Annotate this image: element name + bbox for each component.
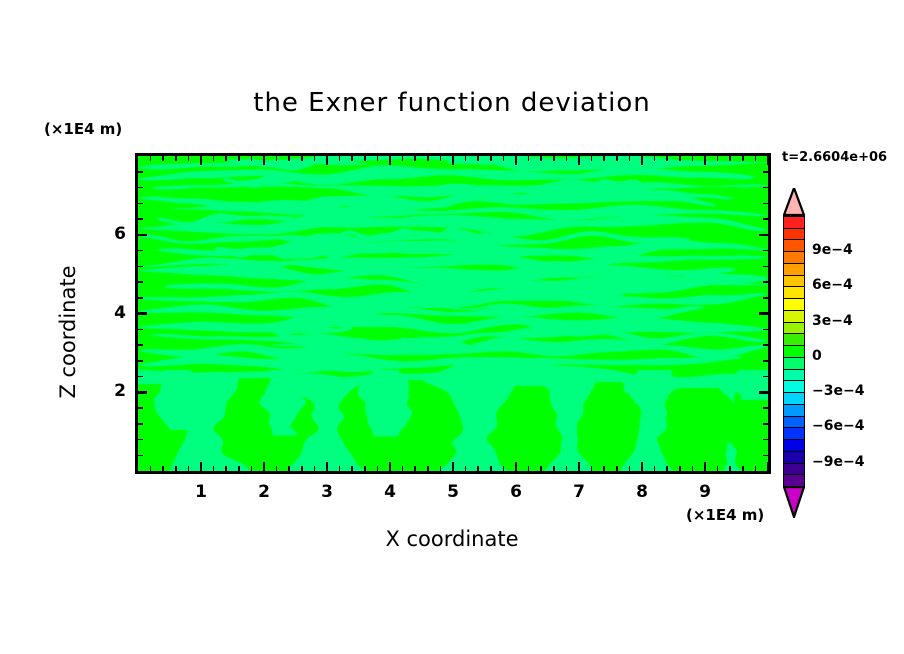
x-minor-tick <box>162 466 164 471</box>
x-minor-tick <box>402 466 404 471</box>
x-minor-tick <box>339 466 341 471</box>
x-minor-tick <box>591 466 593 471</box>
x-minor-tick-top <box>503 156 505 161</box>
x-major-tick <box>578 462 581 471</box>
x-minor-tick-top <box>717 156 719 161</box>
x-minor-tick-top <box>729 156 731 161</box>
y-major-tick-right <box>759 234 768 237</box>
x-minor-tick-top <box>314 156 316 161</box>
y-minor-tick <box>138 281 143 283</box>
x-minor-tick <box>616 466 618 471</box>
x-major-tick-top <box>704 156 707 165</box>
x-major-tick <box>452 462 455 471</box>
colorbar-tick-label: 3e−4 <box>812 313 853 329</box>
y-minor-tick-right <box>763 360 768 362</box>
y-axis-unit-label: (×1E4 m) <box>44 120 122 138</box>
x-minor-tick-top <box>591 156 593 161</box>
colorbar-tick-label: 0 <box>812 348 822 364</box>
x-minor-tick <box>440 466 442 471</box>
colorbar <box>783 216 805 486</box>
y-minor-tick-right <box>763 187 768 189</box>
y-minor-tick-right <box>763 376 768 378</box>
y-tick-label: 2 <box>100 381 126 401</box>
x-minor-tick <box>528 466 530 471</box>
y-minor-tick <box>138 297 143 299</box>
x-minor-tick <box>351 466 353 471</box>
x-minor-tick <box>465 466 467 471</box>
y-minor-tick-right <box>763 455 768 457</box>
x-minor-tick <box>188 466 190 471</box>
x-minor-tick <box>276 466 278 471</box>
x-minor-tick-top <box>288 156 290 161</box>
x-minor-tick-top <box>150 156 152 161</box>
x-minor-tick-top <box>162 156 164 161</box>
x-minor-tick-top <box>427 156 429 161</box>
x-minor-tick-top <box>528 156 530 161</box>
x-major-tick-top <box>515 156 518 165</box>
x-minor-tick-top <box>566 156 568 161</box>
x-minor-tick <box>427 466 429 471</box>
x-minor-tick <box>566 466 568 471</box>
x-minor-tick-top <box>402 156 404 161</box>
x-minor-tick-top <box>225 156 227 161</box>
x-minor-tick <box>490 466 492 471</box>
x-tick-label: 9 <box>685 482 725 502</box>
x-minor-tick-top <box>692 156 694 161</box>
x-minor-tick-top <box>603 156 605 161</box>
y-major-tick-right <box>759 312 768 315</box>
x-minor-tick <box>213 466 215 471</box>
y-axis-title: Z coordinate <box>56 232 80 432</box>
x-minor-tick-top <box>440 156 442 161</box>
contour-field <box>138 156 768 471</box>
y-minor-tick <box>138 423 143 425</box>
colorbar-tick-label: 6e−4 <box>812 277 853 293</box>
y-minor-tick <box>138 439 143 441</box>
x-minor-tick <box>377 466 379 471</box>
x-major-tick-top <box>200 156 203 165</box>
x-minor-tick-top <box>629 156 631 161</box>
x-major-tick <box>515 462 518 471</box>
y-major-tick <box>138 312 147 315</box>
y-minor-tick-right <box>763 250 768 252</box>
y-major-tick <box>138 234 147 237</box>
y-minor-tick-right <box>763 423 768 425</box>
x-minor-tick-top <box>377 156 379 161</box>
y-minor-tick <box>138 171 143 173</box>
x-tick-label: 3 <box>307 482 347 502</box>
x-major-tick-top <box>389 156 392 165</box>
x-minor-tick-top <box>490 156 492 161</box>
x-minor-tick <box>729 466 731 471</box>
x-minor-tick-top <box>742 156 744 161</box>
x-minor-tick <box>414 466 416 471</box>
x-minor-tick <box>540 466 542 471</box>
x-minor-tick <box>477 466 479 471</box>
colorbar-over-arrow <box>783 188 805 216</box>
x-minor-tick-top <box>238 156 240 161</box>
y-minor-tick-right <box>763 203 768 205</box>
x-minor-tick <box>654 466 656 471</box>
x-minor-tick-top <box>351 156 353 161</box>
x-minor-tick-top <box>301 156 303 161</box>
y-minor-tick <box>138 266 143 268</box>
x-minor-tick <box>301 466 303 471</box>
x-minor-tick-top <box>339 156 341 161</box>
x-minor-tick-top <box>540 156 542 161</box>
x-major-tick-top <box>641 156 644 165</box>
y-minor-tick-right <box>763 407 768 409</box>
x-minor-tick-top <box>477 156 479 161</box>
x-major-tick <box>389 462 392 471</box>
x-minor-tick-top <box>755 156 757 161</box>
x-tick-label: 5 <box>433 482 473 502</box>
x-minor-tick-top <box>364 156 366 161</box>
x-major-tick <box>200 462 203 471</box>
x-minor-tick-top <box>679 156 681 161</box>
y-tick-label: 6 <box>100 224 126 244</box>
colorbar-tick-label: −9e−4 <box>812 454 864 470</box>
x-minor-tick <box>692 466 694 471</box>
x-minor-tick <box>603 466 605 471</box>
x-minor-tick <box>175 466 177 471</box>
x-minor-tick-top <box>414 156 416 161</box>
x-minor-tick-top <box>465 156 467 161</box>
y-minor-tick-right <box>763 171 768 173</box>
x-tick-label: 8 <box>622 482 662 502</box>
x-minor-tick-top <box>654 156 656 161</box>
x-major-tick-top <box>326 156 329 165</box>
x-minor-tick-top <box>276 156 278 161</box>
y-minor-tick <box>138 250 143 252</box>
x-axis-unit-label: (×1E4 m) <box>686 506 764 524</box>
x-major-tick-top <box>767 156 770 165</box>
y-minor-tick <box>138 360 143 362</box>
x-major-tick-top <box>263 156 266 165</box>
x-minor-tick <box>225 466 227 471</box>
y-minor-tick-right <box>763 281 768 283</box>
x-minor-tick <box>755 466 757 471</box>
colorbar-under-arrow <box>783 486 805 518</box>
y-minor-tick <box>138 344 143 346</box>
colorbar-tick-label: −3e−4 <box>812 383 864 399</box>
time-annotation: t=2.6604e+06 <box>782 150 887 165</box>
x-minor-tick-top <box>616 156 618 161</box>
y-minor-tick <box>138 407 143 409</box>
x-minor-tick <box>314 466 316 471</box>
x-major-tick-top <box>578 156 581 165</box>
x-major-tick <box>326 462 329 471</box>
y-minor-tick <box>138 329 143 331</box>
y-minor-tick-right <box>763 266 768 268</box>
y-minor-tick-right <box>763 439 768 441</box>
x-minor-tick <box>629 466 631 471</box>
colorbar-tick-label: 9e−4 <box>812 242 853 258</box>
x-minor-tick <box>717 466 719 471</box>
x-minor-tick-top <box>251 156 253 161</box>
x-minor-tick <box>238 466 240 471</box>
x-minor-tick <box>150 466 152 471</box>
y-minor-tick <box>138 218 143 220</box>
x-major-tick <box>767 462 770 471</box>
x-minor-tick-top <box>553 156 555 161</box>
x-tick-label: 4 <box>370 482 410 502</box>
x-minor-tick-top <box>666 156 668 161</box>
x-tick-label: 7 <box>559 482 599 502</box>
page-title: the Exner function deviation <box>0 88 904 118</box>
contour-plot-area <box>135 153 771 474</box>
x-minor-tick-top <box>175 156 177 161</box>
y-minor-tick <box>138 187 143 189</box>
x-minor-tick <box>679 466 681 471</box>
x-major-tick-top <box>452 156 455 165</box>
y-major-tick-right <box>759 391 768 394</box>
y-minor-tick-right <box>763 218 768 220</box>
x-minor-tick <box>288 466 290 471</box>
y-major-tick <box>138 391 147 394</box>
x-tick-label: 6 <box>496 482 536 502</box>
x-tick-label: 2 <box>244 482 284 502</box>
y-tick-label: 4 <box>100 303 126 323</box>
x-major-tick <box>704 462 707 471</box>
x-major-tick <box>263 462 266 471</box>
x-minor-tick <box>503 466 505 471</box>
x-major-tick <box>641 462 644 471</box>
y-minor-tick-right <box>763 344 768 346</box>
x-minor-tick <box>666 466 668 471</box>
colorbar-tick-label: −6e−4 <box>812 418 864 434</box>
x-minor-tick-top <box>213 156 215 161</box>
y-minor-tick <box>138 376 143 378</box>
y-minor-tick <box>138 203 143 205</box>
y-minor-tick-right <box>763 329 768 331</box>
y-minor-tick <box>138 455 143 457</box>
x-minor-tick-top <box>188 156 190 161</box>
x-minor-tick <box>553 466 555 471</box>
x-tick-label: 1 <box>181 482 221 502</box>
x-minor-tick <box>251 466 253 471</box>
x-minor-tick <box>742 466 744 471</box>
x-axis-title: X coordinate <box>0 527 904 551</box>
x-minor-tick <box>364 466 366 471</box>
y-minor-tick-right <box>763 297 768 299</box>
